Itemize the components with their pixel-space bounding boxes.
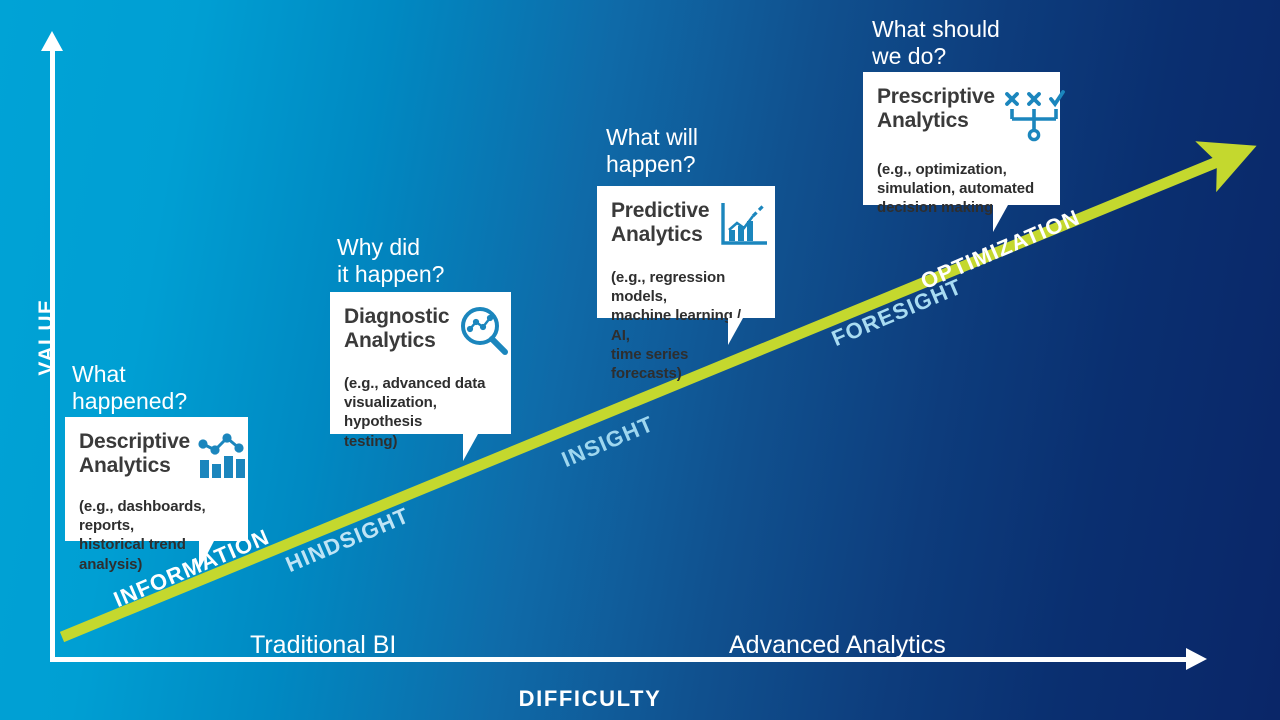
callout-title-prescriptive: Prescriptive Analytics [877, 85, 995, 132]
callout-card-prescriptive[interactable]: Prescriptive Analytics [863, 72, 1060, 205]
callout-title-descriptive: Descriptive Analytics [79, 430, 190, 477]
x-axis-arrowhead-icon [1186, 648, 1207, 670]
callout-tail-prescriptive [993, 205, 1017, 232]
x-axis-segment-traditional-bi: Traditional BI [250, 631, 396, 660]
x-axis-line [50, 657, 1192, 662]
x-axis-title: DIFFICULTY [0, 686, 1180, 712]
magnifier-line-chart-icon [457, 305, 511, 362]
question-diagnostic: Why did it happen? [337, 234, 444, 288]
decision-tree-icon [1003, 85, 1065, 148]
y-axis-arrowhead-icon [41, 31, 63, 51]
question-prescriptive: What should we do? [872, 16, 1000, 70]
callout-header: Descriptive Analytics [79, 430, 234, 485]
y-axis-title: VALUE [35, 277, 59, 397]
callout-header: Prescriptive Analytics [877, 85, 1046, 148]
callout-title-predictive: Predictive Analytics [611, 199, 709, 246]
callout-card-descriptive[interactable]: Descriptive Analytics (e.g., dashboards,… [65, 417, 248, 541]
callout-tail-predictive [728, 318, 752, 345]
analytics-maturity-diagram: VALUE DIFFICULTY Traditional BI Advanced… [0, 0, 1280, 720]
callout-card-predictive[interactable]: Predictive Analytics (e.g., regression m… [597, 186, 775, 318]
x-axis-segment-advanced-analytics: Advanced Analytics [729, 631, 946, 660]
question-descriptive: What happened? [72, 361, 187, 415]
bar-chart-with-line-icon [198, 430, 252, 485]
callout-tail-diagnostic [463, 434, 487, 461]
callout-header: Predictive Analytics [611, 199, 761, 256]
callout-header: Diagnostic Analytics [344, 305, 497, 362]
forecast-trend-chart-icon [717, 199, 769, 256]
callout-tail-descriptive [199, 541, 223, 570]
callout-examples-prescriptive: (e.g., optimization, simulation, automat… [877, 160, 1046, 218]
callout-title-diagnostic: Diagnostic Analytics [344, 305, 449, 352]
callout-card-diagnostic[interactable]: Diagnostic Analytics (e.g., advanced dat… [330, 292, 511, 434]
question-predictive: What will happen? [606, 124, 698, 178]
stage-label-insight: INSIGHT [558, 411, 658, 473]
stage-label-hindsight: HINDSIGHT [282, 503, 413, 578]
